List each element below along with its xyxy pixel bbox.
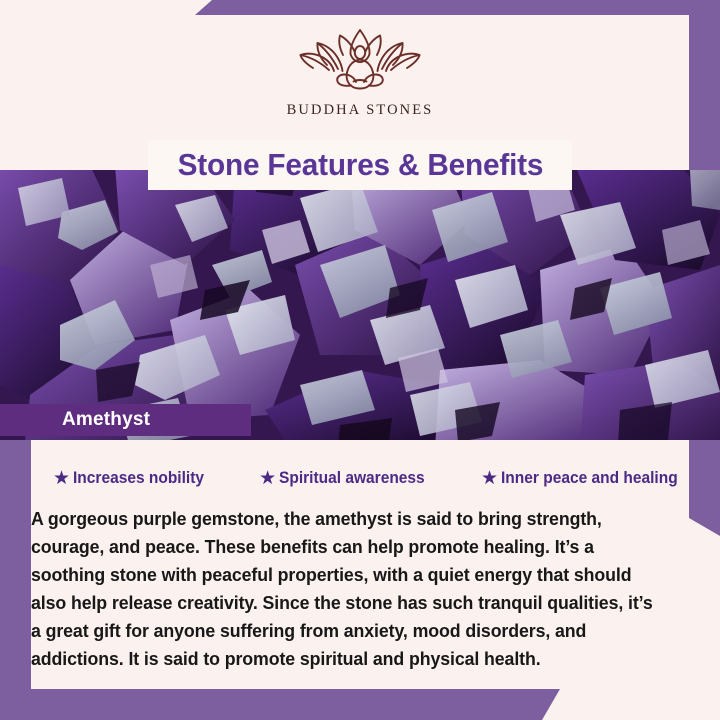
benefit-item-3: ★ Inner peace and healing: [481, 469, 689, 488]
stone-description-text: A gorgeous purple gemstone, the amethyst…: [31, 505, 663, 673]
benefit-label: Spiritual awareness: [279, 469, 425, 488]
brand-logo: BUDDHA STONES: [31, 27, 689, 119]
stone-name-bar: Amethyst: [0, 404, 251, 436]
star-icon: ★: [53, 469, 70, 488]
decorative-band-bottom: [0, 689, 560, 720]
star-icon: ★: [259, 469, 276, 488]
stone-description: A gorgeous purple gemstone, the amethyst…: [31, 505, 686, 673]
stone-name: Amethyst: [62, 409, 150, 431]
lotus-meditation-icon: [296, 27, 424, 99]
benefits-list: ★ Increases nobility ★ Spiritual awarene…: [53, 463, 689, 493]
content-card: BUDDHA STONES Stone Features & Benefits: [31, 15, 689, 689]
stone-photo: [0, 170, 720, 440]
decorative-band-top: [195, 0, 720, 15]
benefit-label: Inner peace and healing: [501, 469, 678, 488]
benefit-item-1: ★ Increases nobility: [53, 469, 212, 488]
amethyst-crystal-cluster-illustration: [0, 170, 720, 440]
decorative-band-left: [0, 436, 31, 720]
benefit-item-2: ★ Spiritual awareness: [259, 469, 434, 488]
star-icon: ★: [481, 469, 498, 488]
page-title: Stone Features & Benefits: [177, 147, 543, 183]
infographic-page: BUDDHA STONES Stone Features & Benefits: [0, 0, 720, 720]
brand-name: BUDDHA STONES: [287, 102, 434, 119]
benefit-label: Increases nobility: [73, 469, 204, 488]
title-plaque: Stone Features & Benefits: [148, 140, 572, 190]
